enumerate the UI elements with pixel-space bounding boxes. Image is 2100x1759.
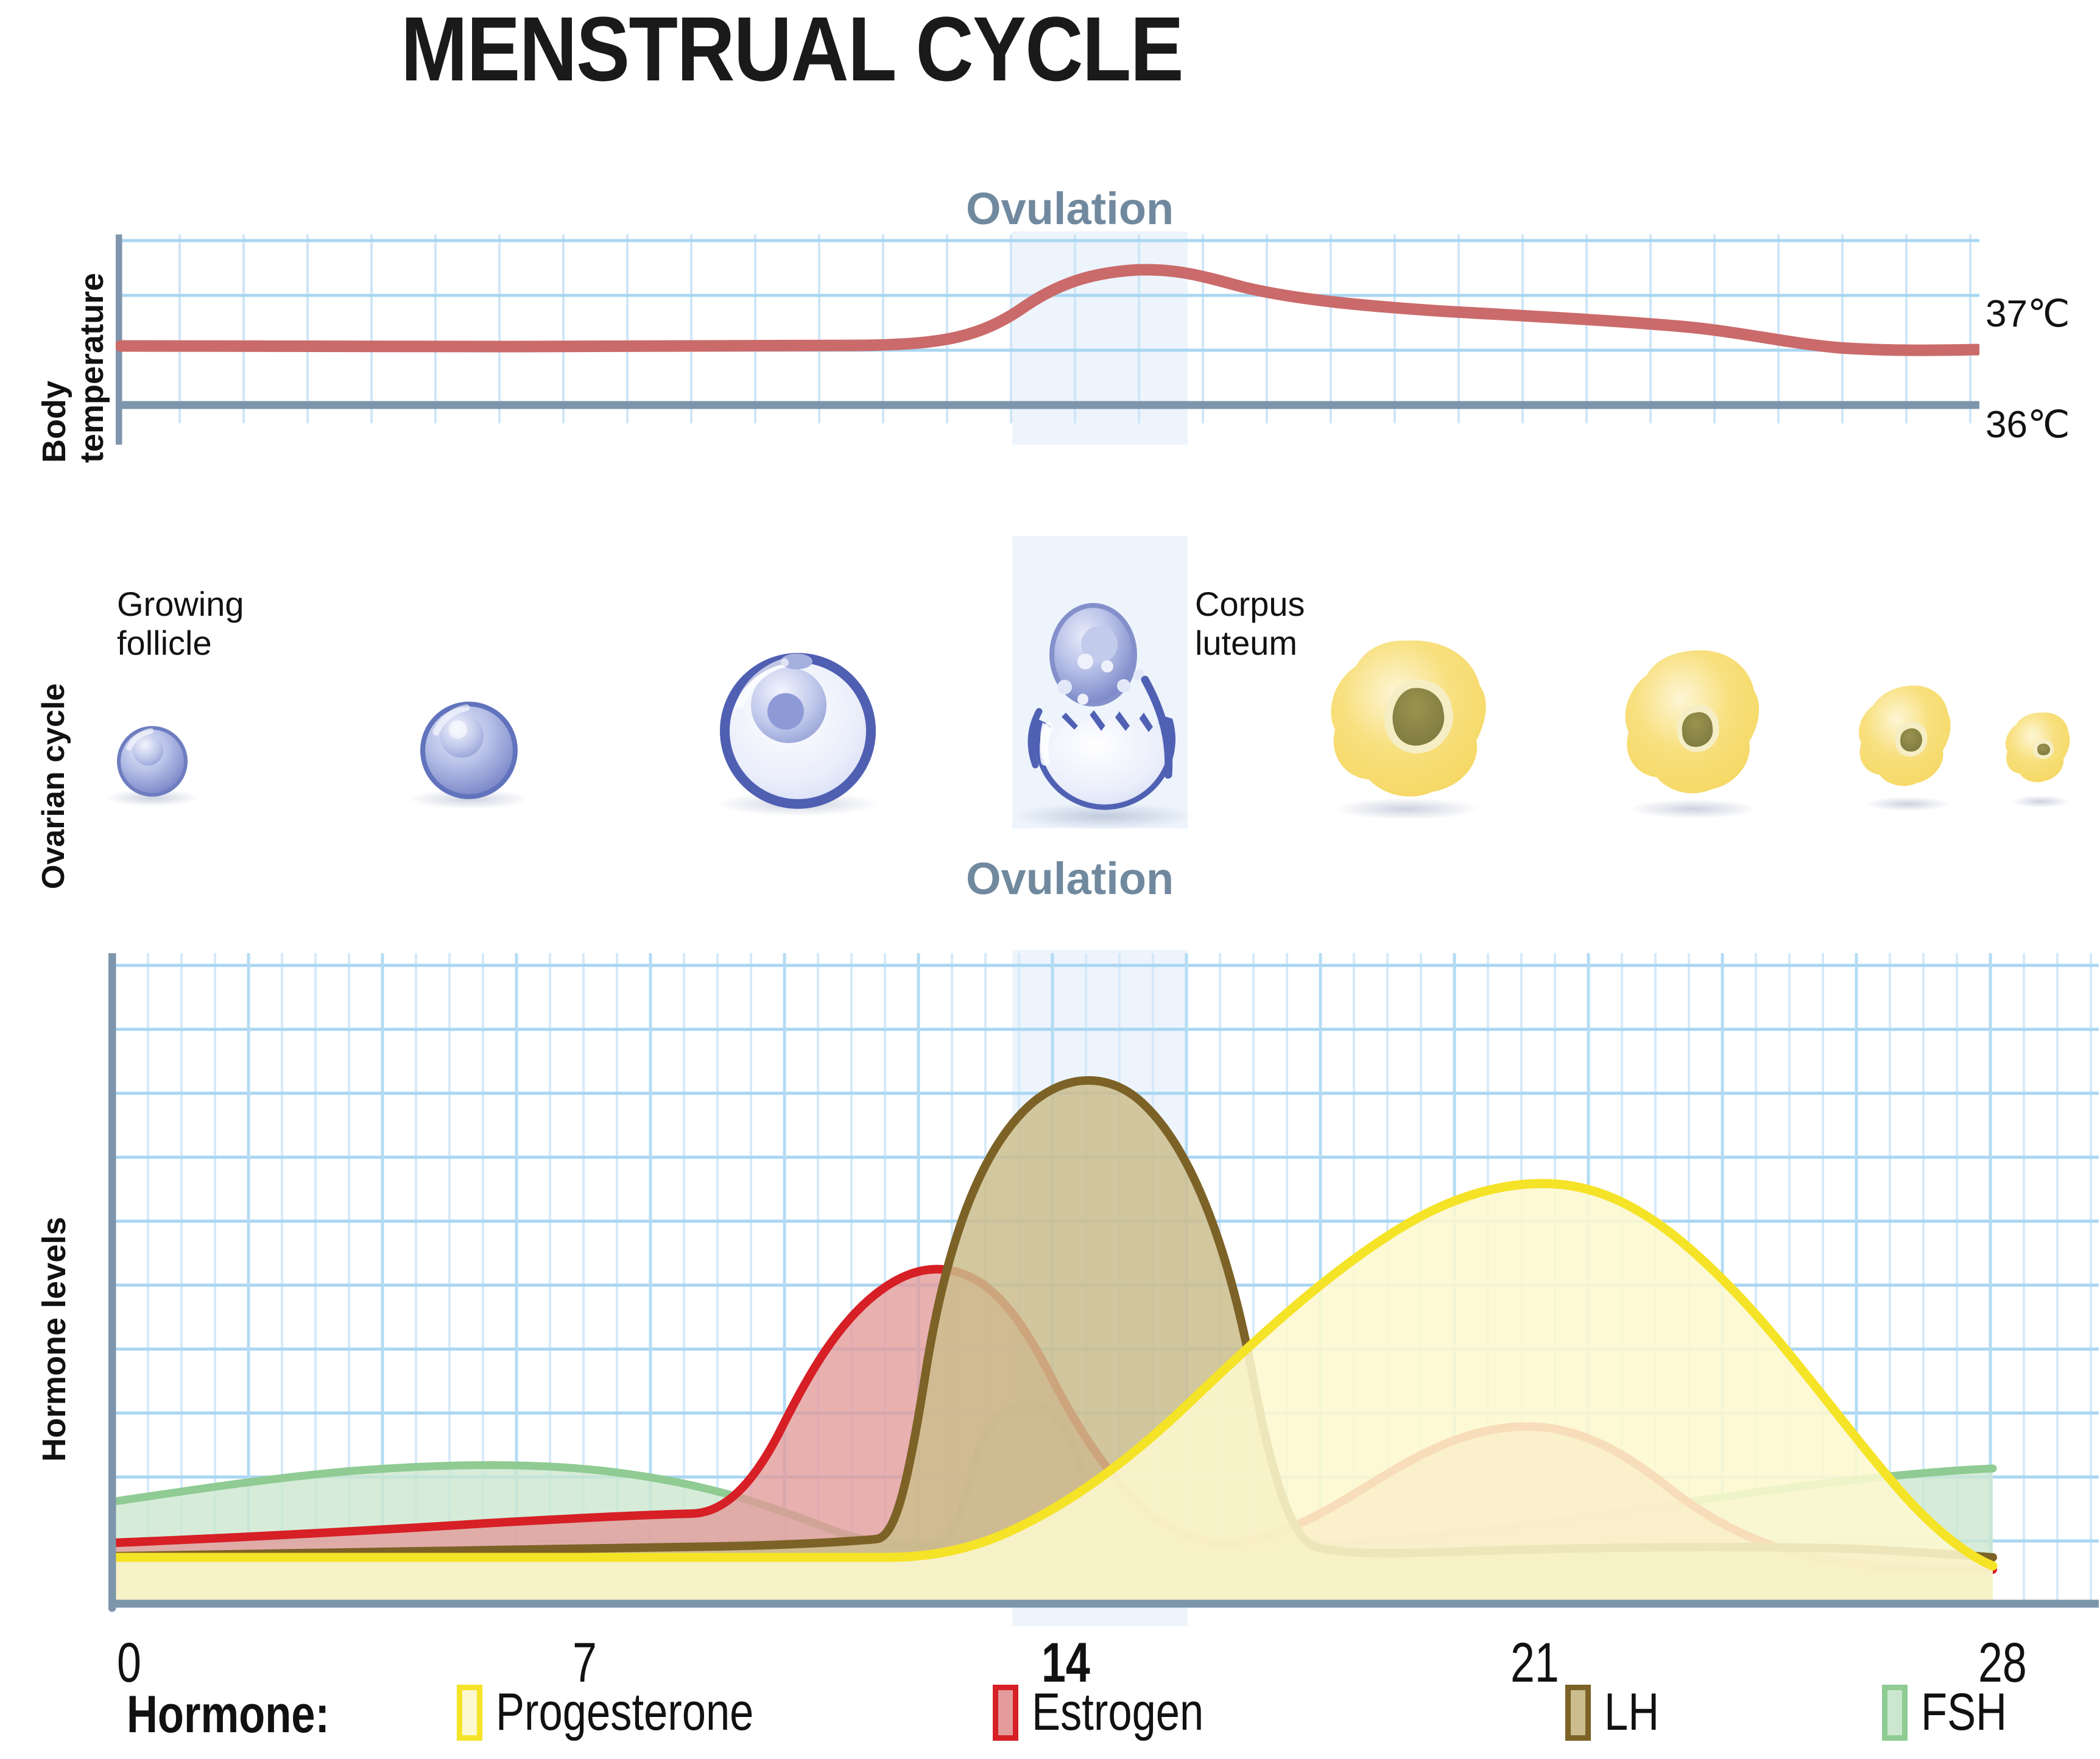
corpus-luteum-stage-3 [1859,685,1951,811]
corpus-luteum-stage-1 [1331,641,1485,820]
legend-item-lh[interactable]: LH [1565,1682,1671,1743]
axis-label-body-temperature: Bodytemperature [35,273,111,463]
follicle-stage-3 [716,653,880,816]
legend-label-fsh: FSH [1921,1682,2007,1743]
legend-swatch-progesterone [457,1685,482,1741]
follicle-ovulation [1012,603,1195,830]
follicle-stage-2 [408,702,530,809]
legend-item-estrogen[interactable]: Estrogen [993,1682,1241,1743]
legend-item-fsh[interactable]: FSH [1882,1682,2026,1743]
ovarian-cycle-row [0,536,2100,841]
temperature-curve [121,270,1977,350]
temperature-tick-37: 37℃ [1985,291,2070,336]
hormone-legend: Hormone: Progesterone Estrogen LH FSH [0,1682,2100,1755]
page-title: MENSTRUAL CYCLE [95,0,1489,102]
follicle-stage-1 [105,726,200,806]
legend-label-estrogen: Estrogen [1032,1682,1203,1743]
hormone-levels-chart [108,953,2099,1626]
ovulation-label-top: Ovulation [966,183,1174,234]
legend-swatch-lh [1565,1685,1591,1741]
axis-label-hormone-levels: Hormone levels [35,1217,73,1462]
corpus-luteum-stage-2 [1626,650,1760,819]
label-growing-follicle: Growingfollicle [117,585,244,663]
legend-title: Hormone: [127,1685,329,1745]
body-temperature-chart [116,234,1979,445]
corpus-luteum-stage-4 [2006,713,2070,808]
legend-swatch-fsh [1882,1685,1908,1741]
legend-label-lh: LH [1604,1682,1659,1743]
legend-label-progesterone: Progesterone [496,1682,753,1743]
label-corpus-luteum: Corpusluteum [1195,585,1305,663]
ovulation-label-bottom: Ovulation [966,853,1174,904]
legend-swatch-estrogen [993,1685,1018,1741]
legend-item-progesterone[interactable]: Progesterone [457,1682,810,1743]
temperature-tick-36: 36℃ [1985,402,2070,446]
